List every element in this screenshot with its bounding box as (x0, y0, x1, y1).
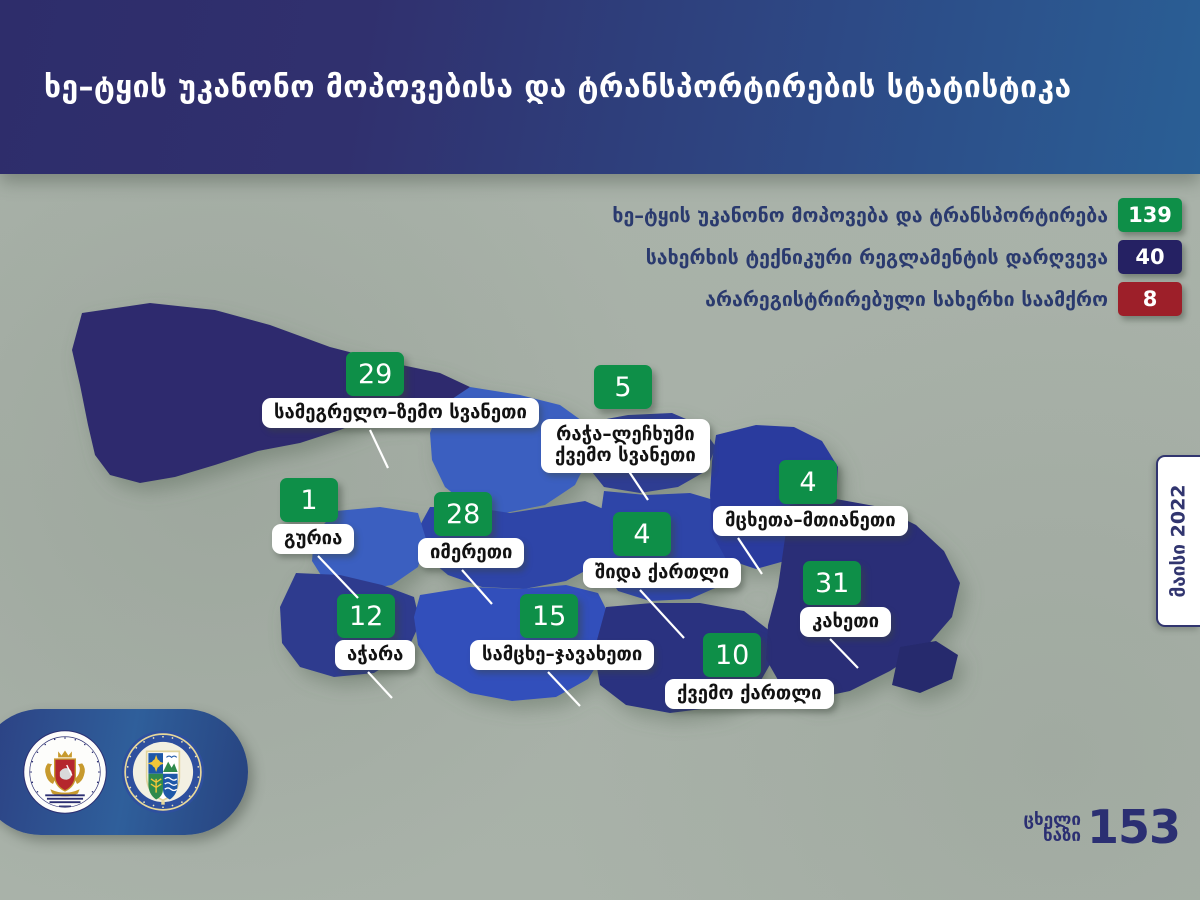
date-tab: მაისი 2022 (1156, 455, 1200, 627)
region-abkhazia (72, 303, 470, 483)
region-name-plate-guria: გურია (272, 524, 354, 554)
hotline-number: 153 (1087, 808, 1180, 848)
region-kakheti-tip (892, 641, 958, 693)
logo-pill (0, 709, 248, 835)
hotline: ცხელი ხაზი 153 (1023, 808, 1180, 848)
region-name-line2: ქვემო სვანეთი (555, 445, 696, 466)
region-count-badge-shida-kartli: 4 (613, 512, 671, 556)
region-count-badge-racha-lechkhumi: 5 (594, 365, 652, 409)
region-name-plate-shida-kartli: შიდა ქართლი (583, 558, 741, 588)
legend-value-badge: 8 (1118, 282, 1182, 316)
infographic-canvas: ხე–ტყის უკანონო მოპოვებისა და ტრანსპორტი… (0, 0, 1200, 900)
legend-label: ხე–ტყის უკანონო მოპოვება და ტრანსპორტირე… (612, 204, 1108, 227)
region-count-badge-kvemo-kartli: 10 (703, 633, 761, 677)
region-name-line1: რაჭა–ლეჩხუმი (556, 424, 694, 445)
legend-item: ხე–ტყის უკანონო მოპოვება და ტრანსპორტირე… (612, 198, 1182, 232)
date-label: მაისი 2022 (1168, 484, 1190, 597)
region-name-plate-imereti: იმერეთი (418, 538, 524, 568)
region-name-plate-samtskhe-javakheti: სამცხე–ჯავახეთი (470, 640, 654, 670)
environmental-supervision-emblem-icon (120, 729, 206, 815)
region-name-plate-kakheti: კახეთი (800, 607, 891, 637)
region-name-plate-mtskheta-mtianeti: მცხეთა–მთიანეთი (713, 506, 908, 536)
region-count-badge-kakheti: 31 (803, 561, 861, 605)
ministry-emblem-icon (22, 729, 108, 815)
region-name-plate-racha-lechkhumi: რაჭა–ლეჩხუმი ქვემო სვანეთი (541, 419, 710, 473)
region-count-badge-imereti: 28 (434, 492, 492, 536)
region-count-badge-mtskheta-mtianeti: 4 (779, 460, 837, 504)
region-count-badge-guria: 1 (280, 478, 338, 522)
legend-value-badge: 139 (1118, 198, 1182, 232)
region-count-badge-adjara: 12 (337, 594, 395, 638)
page-title: ხე–ტყის უკანონო მოპოვებისა და ტრანსპორტი… (0, 71, 1071, 104)
legend-value-badge: 40 (1118, 240, 1182, 274)
hotline-label-line2: ხაზი (1023, 828, 1081, 845)
header-banner: ხე–ტყის უკანონო მოპოვებისა და ტრანსპორტი… (0, 0, 1200, 174)
region-count-badge-samtskhe-javakheti: 15 (520, 594, 578, 638)
region-name-plate-kvemo-kartli: ქვემო ქართლი (665, 679, 834, 709)
region-name-plate-adjara: აჭარა (335, 640, 415, 670)
region-count-badge-samegrelo-zemo-svaneti: 29 (346, 352, 404, 396)
region-name-plate-samegrelo-zemo-svaneti: სამეგრელო–ზემო სვანეთი (262, 398, 539, 428)
hotline-label: ცხელი ხაზი (1023, 812, 1081, 845)
